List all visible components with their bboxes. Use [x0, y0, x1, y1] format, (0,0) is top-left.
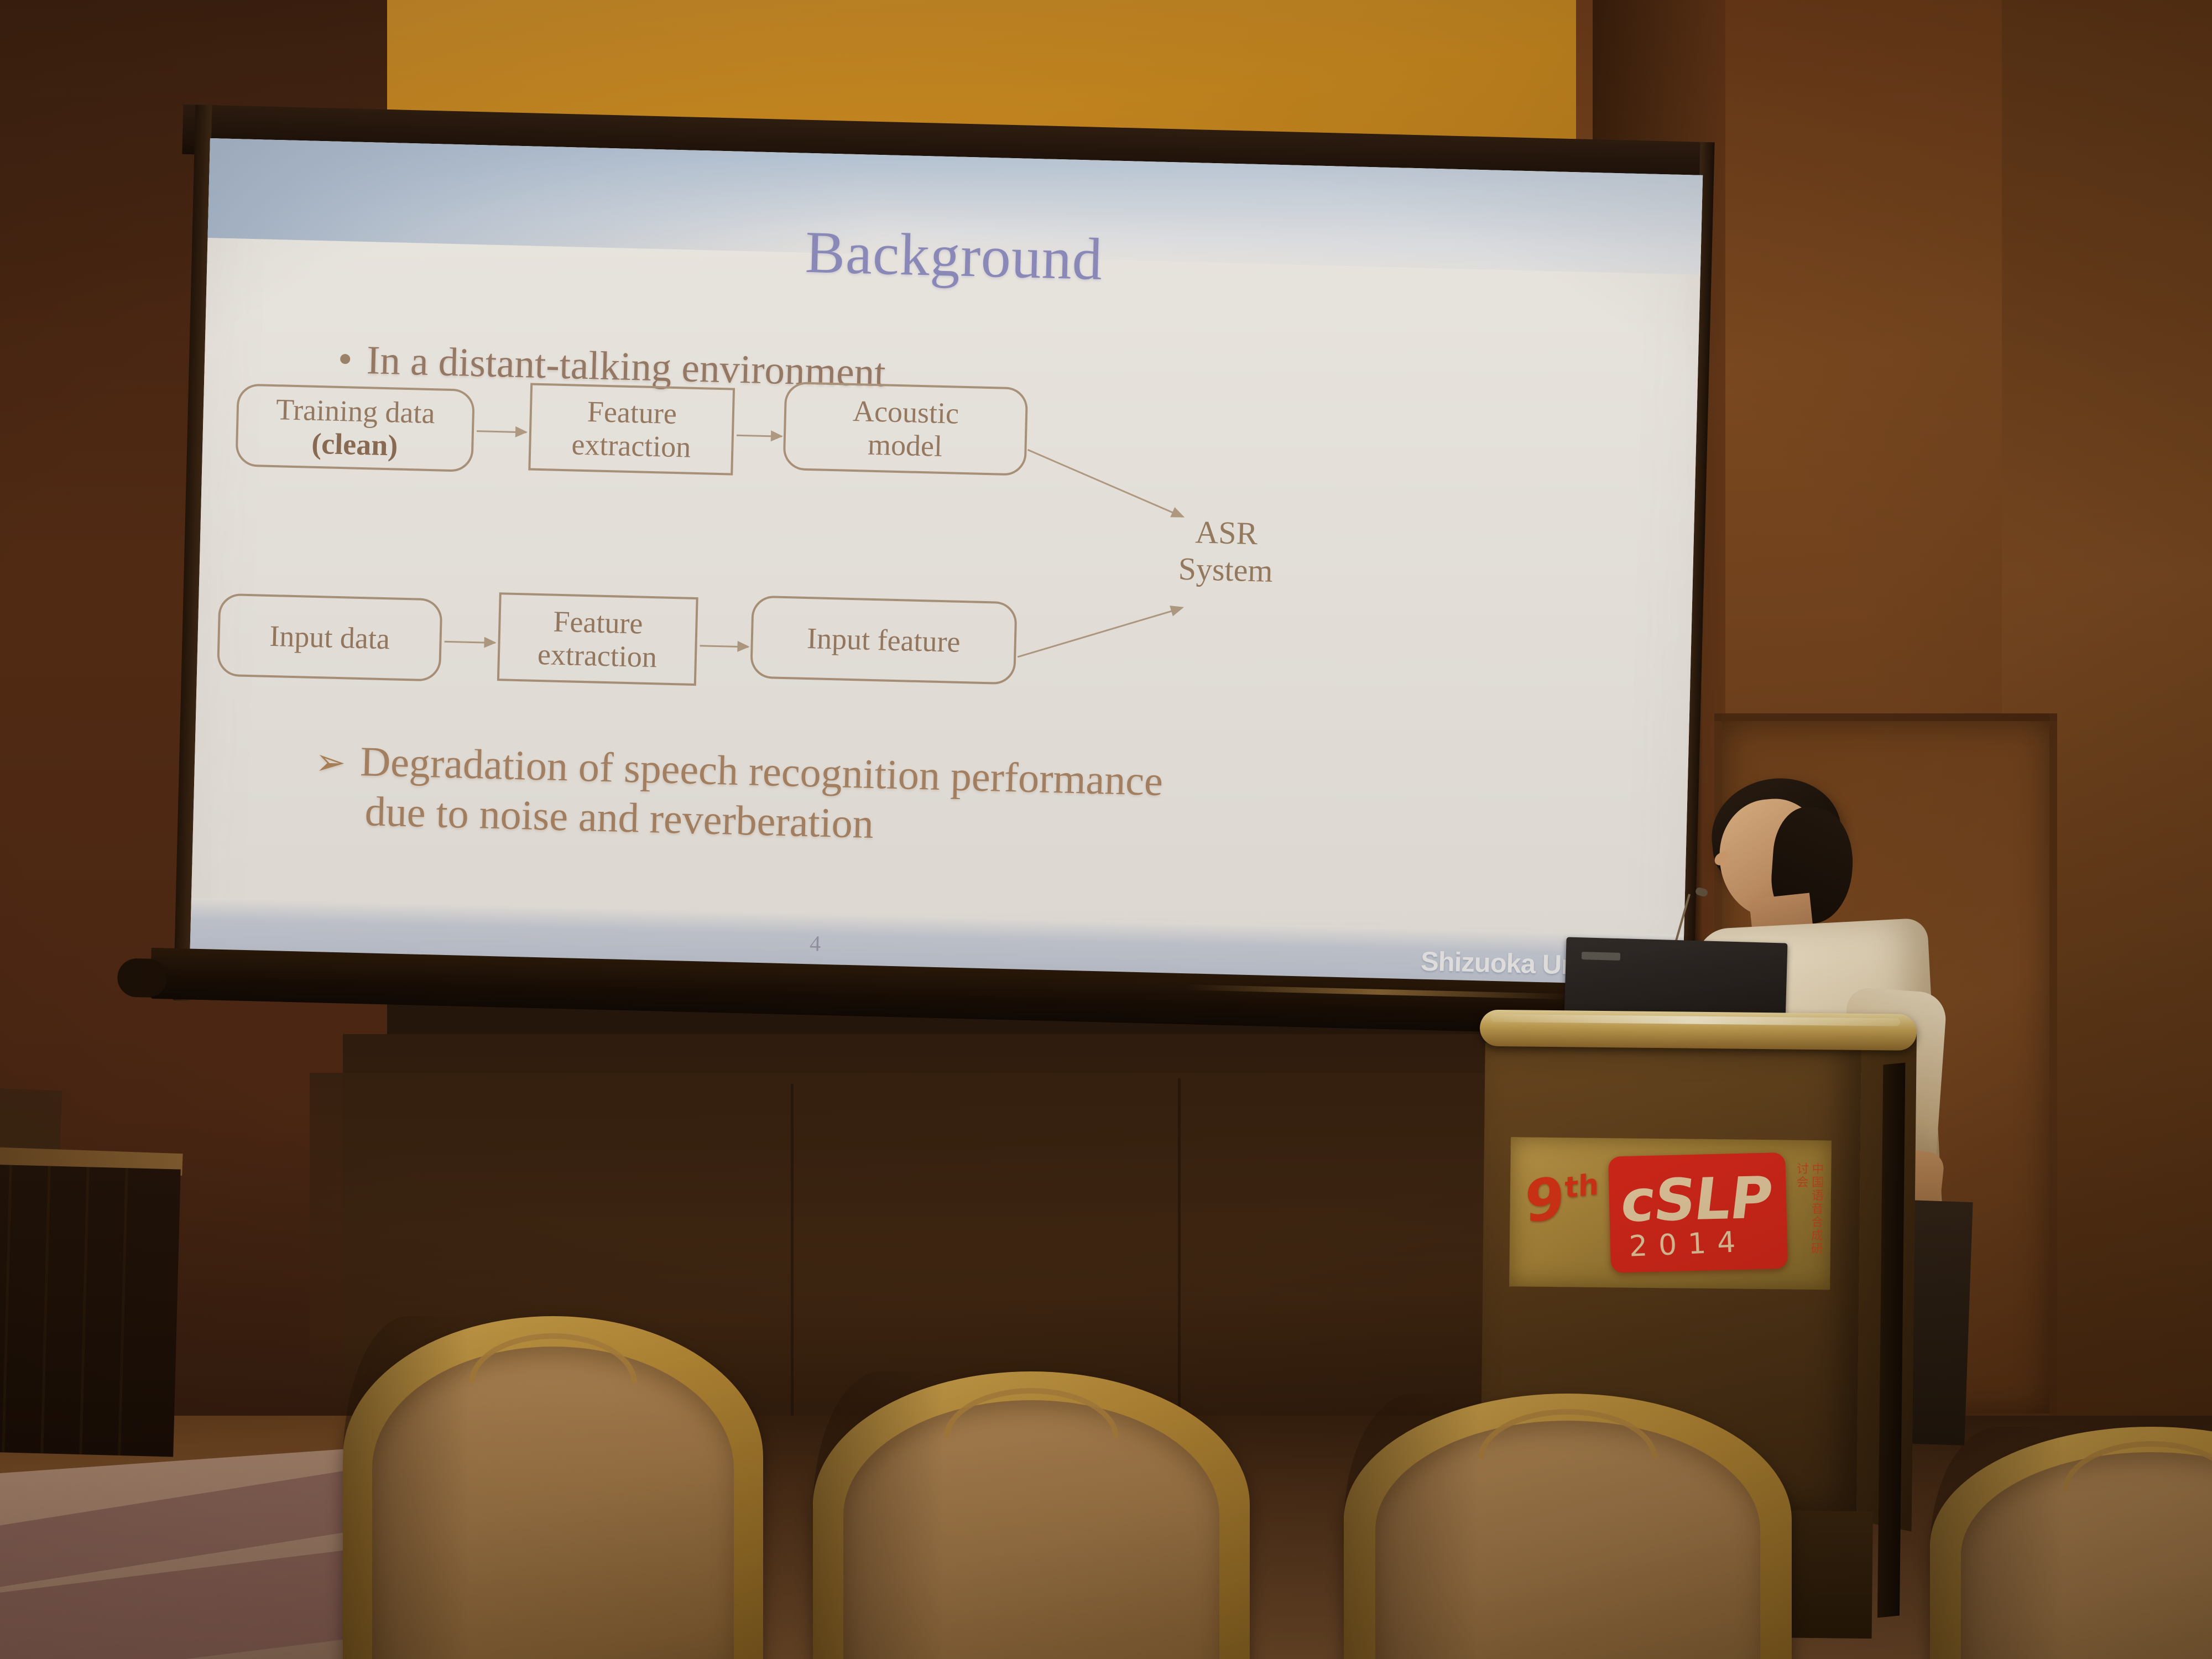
laptop-screen-glare	[1582, 952, 1620, 961]
conference-hall-photo: Background In a distant-talking environm…	[0, 0, 2212, 1659]
slide-page-number: 4	[810, 930, 821, 956]
arrow-bullet-icon: ➢	[315, 741, 346, 785]
conference-ordinal-number: 9	[1525, 1164, 1565, 1236]
diagram-node-input-data: Input data	[217, 593, 443, 682]
projection-screen: Background In a distant-talking environm…	[188, 138, 1703, 1060]
diagram-node-input-feature: Input feature	[750, 596, 1018, 685]
chair-2[interactable]	[813, 1371, 1250, 1659]
conference-logo-sign: 9th cSLP 2014 中国语音合成研讨会	[1509, 1137, 1832, 1290]
node-acoustic-line1: Acoustic	[852, 394, 959, 430]
conference-badge: cSLP 2014	[1608, 1152, 1788, 1273]
node-training-data-line2: (clean)	[311, 427, 398, 462]
side-table-cloth	[0, 1165, 181, 1457]
diagram-arrow-2	[737, 435, 782, 437]
node-fe-input-line1: Feature	[553, 604, 643, 640]
conference-ordinal-text: 9th	[1525, 1160, 1599, 1236]
conference-cjk-subtitle: 中国语音合成研讨会	[1774, 1162, 1825, 1262]
node-training-data-line1: Training data	[275, 393, 435, 430]
node-input-feature-text: Input feature	[806, 622, 961, 659]
conference-ordinal-suffix: th	[1564, 1168, 1599, 1205]
chair-shadow	[343, 1316, 469, 1659]
diagram-arrow-to-asr-bottom	[1018, 607, 1182, 658]
presentation-slide: Background In a distant-talking environm…	[190, 138, 1703, 988]
asr-label-line2: System	[1178, 550, 1273, 588]
chair-shadow	[813, 1371, 944, 1659]
diagram-arrow-1	[477, 430, 526, 433]
bullet-dot-icon	[340, 354, 350, 364]
screen-roller-knob[interactable]	[117, 958, 168, 998]
diagram-arrow-to-asr-top	[1027, 449, 1183, 518]
chair-4[interactable]	[1930, 1427, 2212, 1659]
diagram-node-acoustic-model: Acoustic model	[782, 382, 1028, 476]
node-fe-train-line2: extraction	[571, 427, 691, 463]
chair-3[interactable]	[1344, 1394, 1792, 1659]
node-input-data-text: Input data	[269, 619, 390, 656]
conference-year: 2014	[1629, 1225, 1747, 1264]
node-fe-input-line2: extraction	[537, 638, 657, 674]
chair-1[interactable]	[343, 1316, 763, 1659]
diagram-arrow-4	[700, 645, 748, 648]
slide-bullet-2-line2: due to noise and reverberation	[364, 787, 874, 849]
chair-shadow	[1930, 1427, 2063, 1659]
diagram-node-feature-extraction-input: Feature extraction	[497, 592, 698, 686]
diagram-node-feature-extraction-train: Feature extraction	[528, 383, 735, 475]
node-fe-train-line1: Feature	[587, 395, 677, 430]
conference-acronym: cSLP	[1618, 1164, 1775, 1235]
asr-label-line1: ASR	[1195, 514, 1258, 551]
chair-shadow	[1344, 1394, 1478, 1659]
diagram-arrow-3	[445, 641, 495, 644]
diagram-output-label: ASR System	[1134, 513, 1318, 591]
wall-seam	[791, 1084, 794, 1471]
asr-pipeline-diagram: Training data (clean) Feature extraction…	[195, 376, 1697, 767]
node-acoustic-line2: model	[867, 428, 942, 463]
diagram-node-training-data: Training data (clean)	[235, 383, 475, 472]
